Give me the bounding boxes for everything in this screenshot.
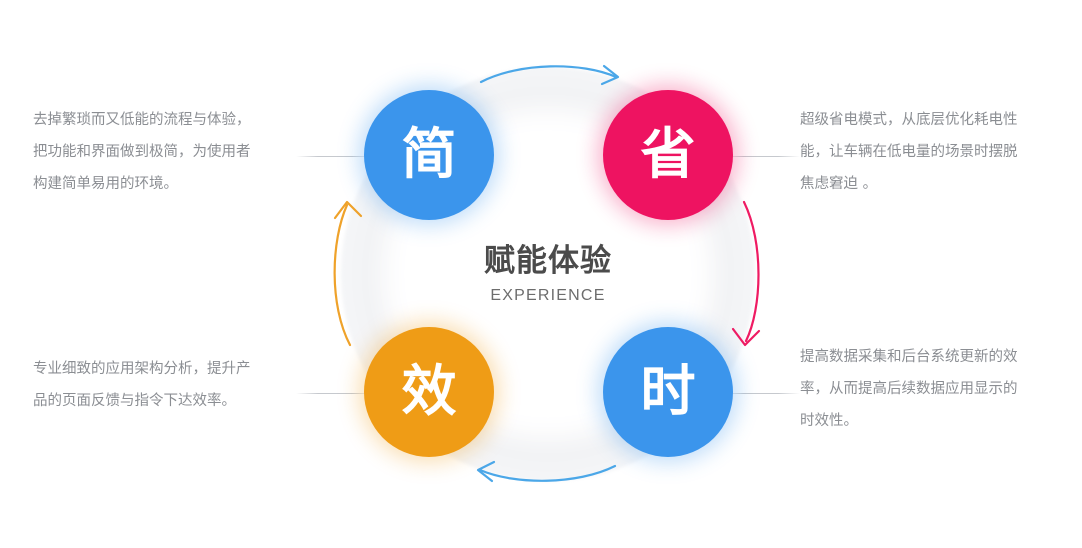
infographic-canvas: 简 省 效 时 赋能体验 EXPERIENCE 去掉繁琐而又低能的流程与体验， … xyxy=(0,0,1082,548)
connector-line-bottom-right xyxy=(722,393,800,394)
description-top-right: 超级省电模式，从底层优化耗电性 能，让车辆在低电量的场景时摆脱 焦虑窘迫 。 xyxy=(800,104,1062,200)
description-bottom-right: 提高数据采集和后台系统更新的效 率，从而提高后续数据应用显示的 时效性。 xyxy=(800,341,1062,437)
center-title-cn: 赋能体验 xyxy=(409,244,687,278)
description-top-left: 去掉繁琐而又低能的流程与体验， 把功能和界面做到极简，为使用者 构建简单易用的环… xyxy=(33,104,295,200)
center-title-en: EXPERIENCE xyxy=(409,287,687,305)
node-circle-sheng[interactable]: 省 xyxy=(603,90,733,220)
node-label-sheng: 省 xyxy=(640,127,695,182)
node-label-xiao: 效 xyxy=(401,364,456,419)
description-bottom-left: 专业细致的应用架构分析，提升产 品的页面反馈与指令下达效率。 xyxy=(33,353,295,417)
node-label-shi: 时 xyxy=(640,364,695,419)
node-circle-xiao[interactable]: 效 xyxy=(364,327,494,457)
connector-line-top-right xyxy=(722,156,800,157)
connector-line-bottom-left xyxy=(296,393,374,394)
center-title-group: 赋能体验 EXPERIENCE xyxy=(409,244,687,305)
node-label-jian: 简 xyxy=(401,127,456,182)
connector-line-top-left xyxy=(296,156,374,157)
node-circle-jian[interactable]: 简 xyxy=(364,90,494,220)
node-circle-shi[interactable]: 时 xyxy=(603,327,733,457)
